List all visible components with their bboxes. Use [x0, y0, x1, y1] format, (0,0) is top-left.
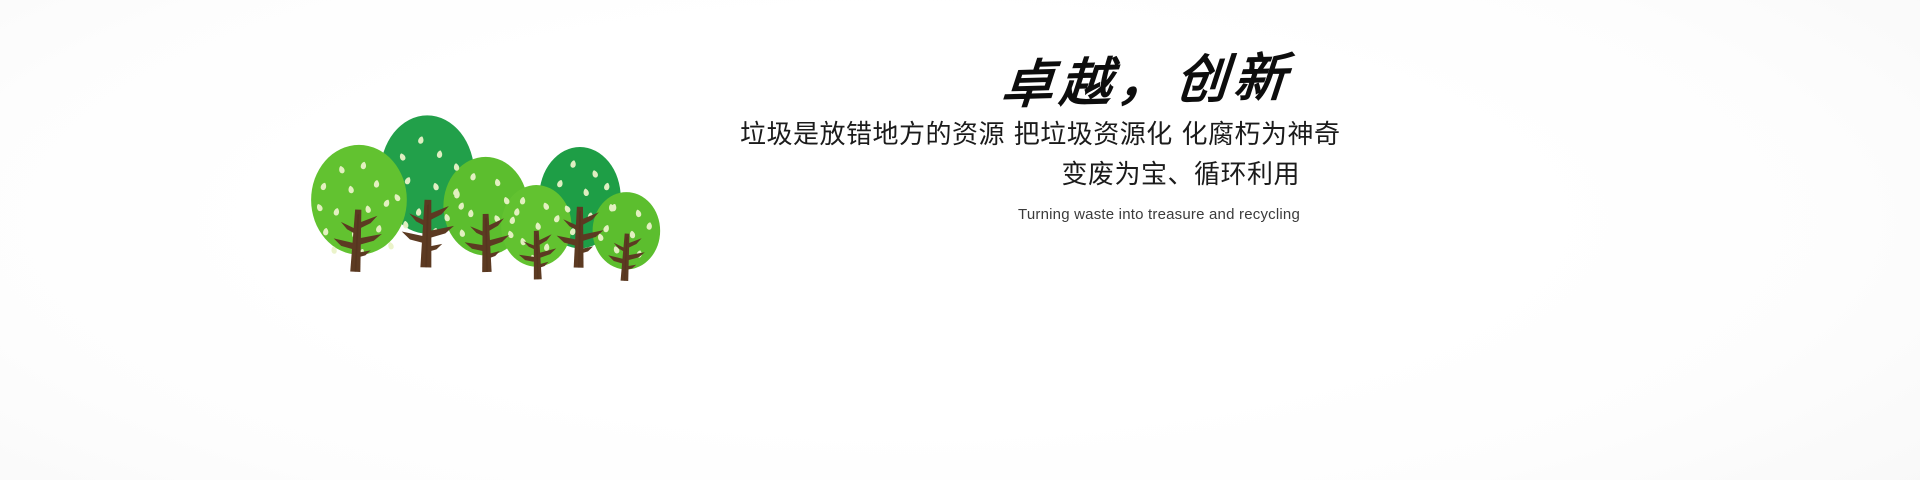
slogan-line-1: 垃圾是放错地方的资源 把垃圾资源化 化腐朽为神奇	[740, 116, 1300, 156]
slogan-line-2: 变废为宝、循环利用	[740, 156, 1300, 196]
banner-text-block: 卓越，创新 垃圾是放错地方的资源 把垃圾资源化 化腐朽为神奇 变废为宝、循环利用…	[740, 52, 1310, 227]
eco-banner: 卓越，创新 垃圾是放错地方的资源 把垃圾资源化 化腐朽为神奇 变废为宝、循环利用…	[0, 0, 1920, 480]
subtitle-english: Turning waste into treasure and recyclin…	[740, 204, 1300, 227]
headline-calligraphy: 卓越，创新	[737, 52, 1295, 121]
forest-trees-illustration	[290, 48, 670, 273]
